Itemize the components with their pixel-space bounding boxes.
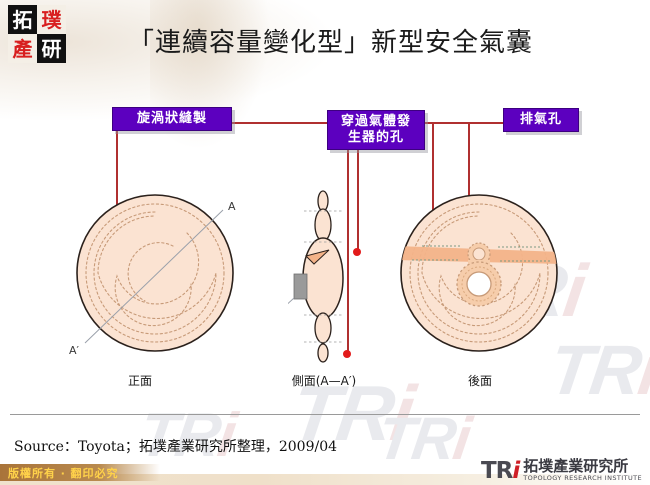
brand-logo: 拓 璞 產 研: [8, 5, 66, 63]
footer-divider: [10, 414, 640, 415]
callout-inflator-hole-line-1: 穿過氣體發: [334, 114, 418, 130]
section-mark-a-prime: A′: [69, 344, 80, 357]
institute-name-cn: 拓墣產業研究所: [523, 459, 628, 474]
figure-side-label: 側面(A—A′): [278, 372, 370, 389]
leader-line-vent-horizontal: [432, 122, 504, 124]
institute-mark: TRi: [481, 460, 519, 482]
callout-swirl-sewing-line-1: 旋渦狀縫製: [119, 111, 225, 127]
callout-vent-hole-line-1: 排氣孔: [510, 112, 572, 128]
figure-front-view: A A′: [55, 188, 265, 368]
logo-char-3: 產: [8, 34, 37, 63]
figure-side-view: [288, 188, 358, 368]
institute-logo: TRi 拓墣產業研究所 TOPOLOGY RESEARCH INSTITUTE: [481, 458, 642, 482]
page-title: 「連續容量變化型」新型安全氣囊: [128, 22, 628, 59]
figure-front-label: 正面: [110, 372, 170, 389]
callout-swirl-sewing[interactable]: 旋渦狀縫製: [112, 107, 232, 131]
copyright-text: 版權所有 ‧ 翻印必究: [8, 465, 119, 481]
section-mark-a: A: [228, 200, 236, 213]
institute-name-stack: 拓墣產業研究所 TOPOLOGY RESEARCH INSTITUTE: [523, 459, 642, 482]
slide-canvas: TRi TRi TRi TRi TRi 拓 璞 產 研 「連續容量變化型」新型安…: [0, 0, 650, 485]
logo-char-2: 璞: [37, 5, 66, 34]
institute-mark-prefix: TR: [481, 458, 512, 484]
figure-rear-label: 後面: [450, 372, 510, 389]
source-caption: Source：Toyota；拓墣產業研究所整理，2009/04: [14, 436, 337, 456]
institute-mark-suffix: i: [512, 458, 519, 484]
callout-inflator-hole[interactable]: 穿過氣體發 生器的孔: [327, 110, 425, 150]
callout-inflator-hole-line-2: 生器的孔: [334, 130, 418, 146]
logo-char-4: 研: [37, 34, 66, 63]
figure-rear-view: [382, 188, 578, 368]
institute-name-en: TOPOLOGY RESEARCH INSTITUTE: [523, 474, 642, 482]
callout-vent-hole[interactable]: 排氣孔: [503, 108, 579, 132]
logo-char-1: 拓: [8, 5, 37, 34]
